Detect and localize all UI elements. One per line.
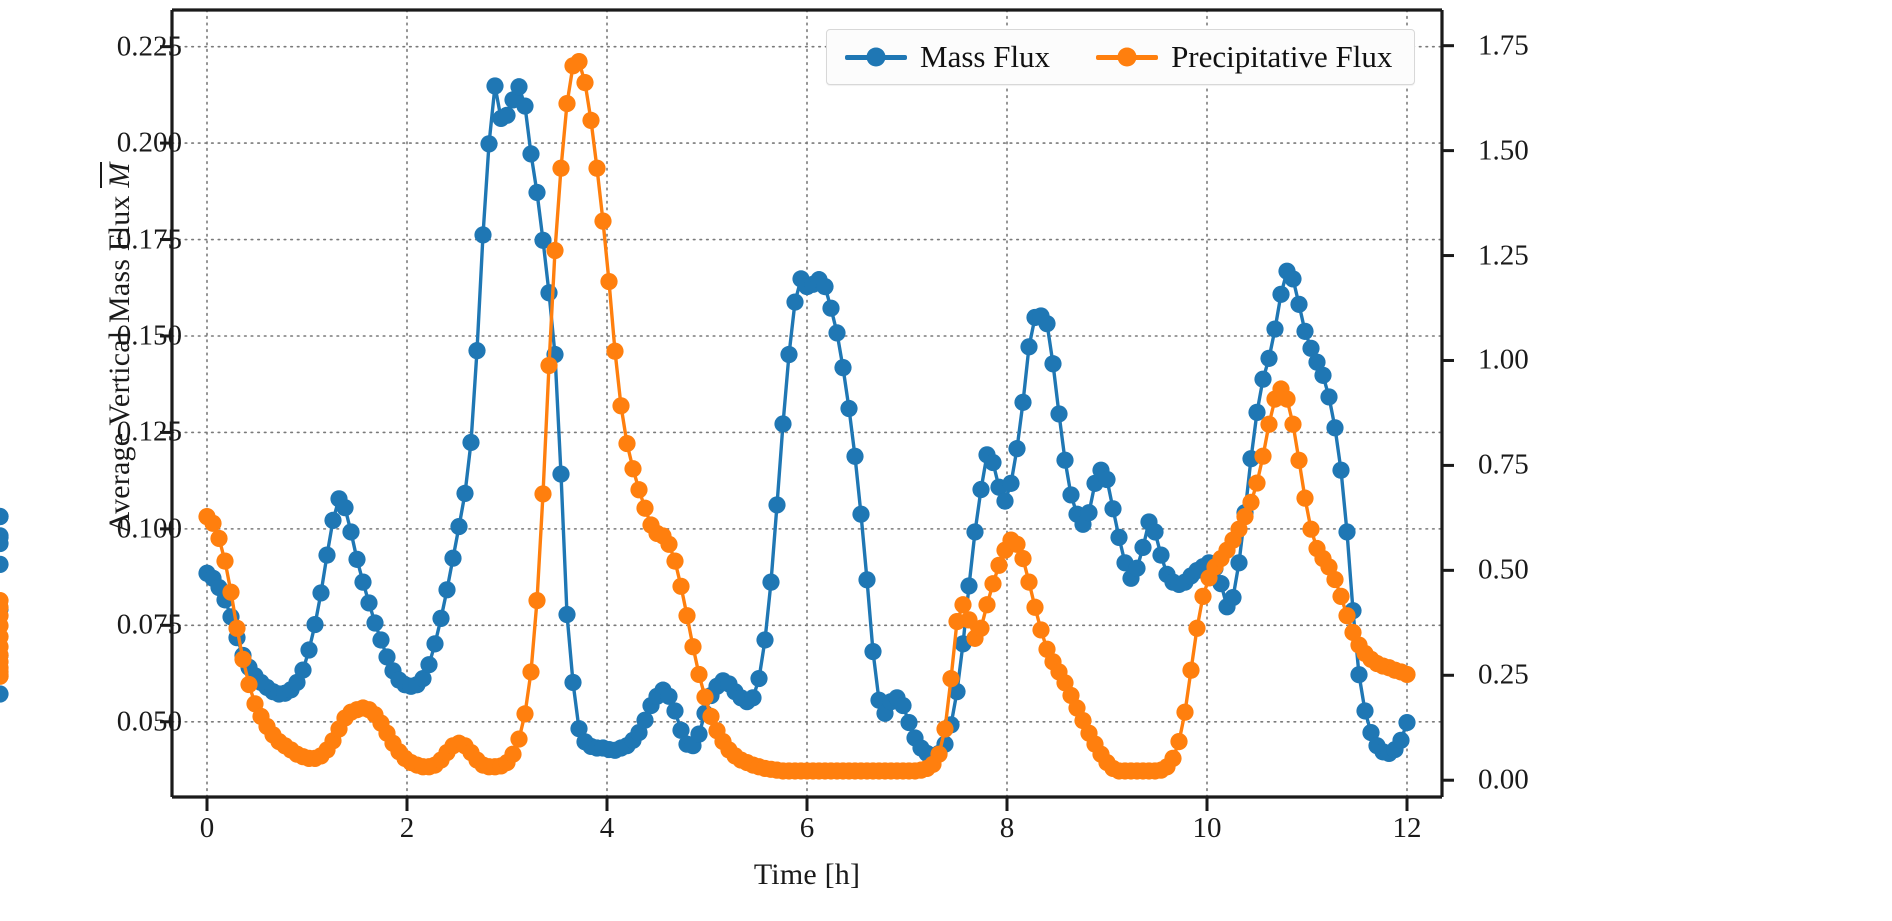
legend-label-precipitative-flux: Precipitative Flux (1171, 39, 1392, 75)
x-axis-label: Time [h] (172, 858, 1442, 892)
legend: Mass Flux Precipitative Flux (826, 29, 1415, 85)
mass-flux-symbol: M (103, 162, 137, 187)
y-tick-label-left: 0.125 (117, 416, 182, 449)
x-tick-label: 0 (200, 812, 215, 845)
series-mass-flux (0, 77, 1416, 764)
legend-line-mass-flux (845, 55, 907, 60)
legend-label-mass-flux: Mass Flux (920, 39, 1050, 75)
y-tick-label-right: 0.25 (1478, 659, 1529, 692)
y-tick-label-right: 0.00 (1478, 764, 1529, 797)
y-tick-label-right: 0.75 (1478, 449, 1529, 482)
grid-layer (172, 10, 1442, 797)
y-tick-label-left: 0.200 (117, 127, 182, 160)
legend-entry-precipitative-flux: Precipitative Flux (1096, 39, 1392, 75)
y-tick-label-right: 1.75 (1478, 29, 1529, 62)
y-tick-label-left: 0.050 (117, 705, 182, 738)
y-tick-label-right: 1.25 (1478, 239, 1529, 272)
y-tick-label-left: 0.075 (117, 609, 182, 642)
x-tick-label: 6 (800, 812, 815, 845)
y-tick-label-left: 0.100 (117, 512, 182, 545)
legend-line-precipitative-flux (1096, 55, 1158, 60)
legend-marker-precipitative-flux (1118, 48, 1137, 67)
y-tick-label-left: 0.225 (117, 30, 182, 63)
x-tick-label: 2 (400, 812, 415, 845)
x-tick-label: 10 (1193, 812, 1222, 845)
legend-entry-mass-flux: Mass Flux (845, 39, 1050, 75)
y-tick-label-left: 0.150 (117, 319, 182, 352)
y-tick-label-right: 0.50 (1478, 554, 1529, 587)
figure-root: Average Vertical Mass Flux M Average Pre… (0, 0, 1892, 921)
y-tick-label-right: 1.50 (1478, 134, 1529, 167)
y-tick-label-left: 0.175 (117, 223, 182, 256)
series-precipitative-flux (0, 53, 1416, 780)
y-tick-label-right: 1.00 (1478, 344, 1529, 377)
plot-canvas (0, 0, 1892, 921)
x-tick-label: 8 (1000, 812, 1015, 845)
x-tick-label: 4 (600, 812, 615, 845)
series-layer (0, 53, 1416, 780)
x-tick-label: 12 (1393, 812, 1422, 845)
legend-marker-mass-flux (867, 48, 886, 67)
